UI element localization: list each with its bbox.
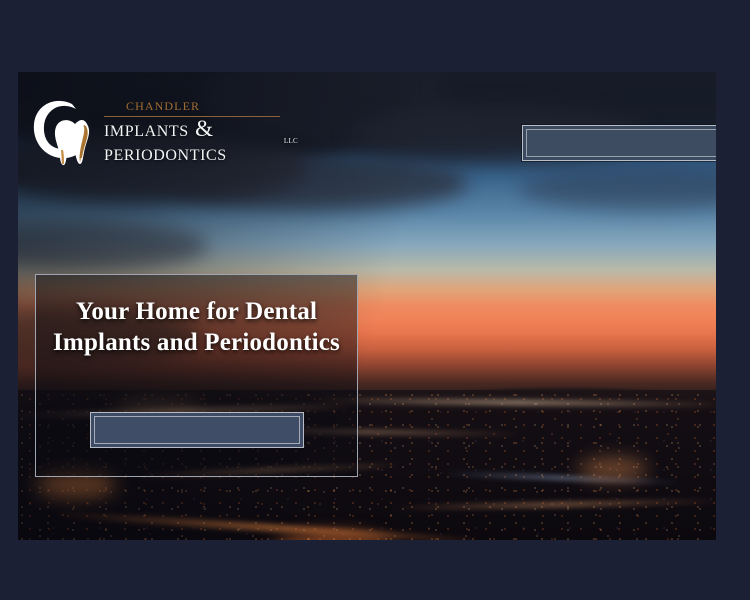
hero-panel: Your Home for Dental Implants and Period… — [35, 274, 358, 477]
browser-backdrop: Chandler Implants & Periodontics LLC You… — [0, 0, 750, 600]
hero-cta-button-inner — [94, 416, 300, 444]
hero-heading: Your Home for Dental Implants and Period… — [36, 275, 357, 358]
tooth-monogram-icon — [28, 94, 108, 172]
hero-cta-button[interactable] — [90, 412, 304, 448]
logo-wordmark: Chandler Implants & Periodontics LLC — [104, 96, 280, 164]
logo-line-chandler: Chandler — [104, 96, 280, 117]
site-viewport: Chandler Implants & Periodontics LLC You… — [18, 72, 716, 540]
city-glow — [578, 458, 648, 480]
logo-line-implants: Implants & — [104, 117, 280, 141]
logo-llc-suffix: LLC — [284, 138, 298, 145]
logo-line-periodontics-text: Periodontics — [104, 140, 227, 165]
site-logo[interactable]: Chandler Implants & Periodontics LLC — [28, 90, 280, 174]
logo-line-periodontics: Periodontics LLC — [104, 141, 280, 165]
top-right-contact-bar-inner — [526, 129, 716, 157]
top-right-contact-bar[interactable] — [522, 125, 716, 161]
